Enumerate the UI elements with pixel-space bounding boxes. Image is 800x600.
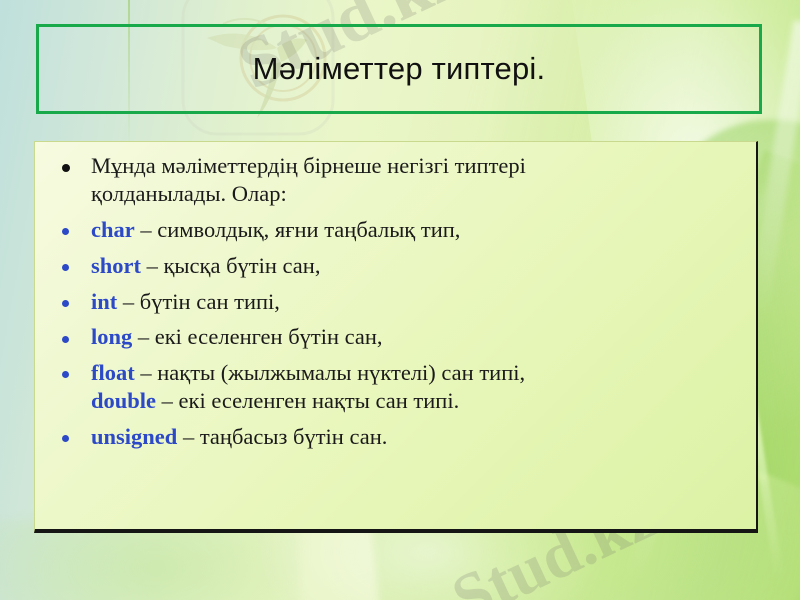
bullet-line: short – қысқа бүтін сан, xyxy=(91,252,742,280)
bullet-dot-icon xyxy=(62,164,70,172)
bullet-dot-icon xyxy=(62,264,69,271)
bullet-dot-icon xyxy=(62,300,69,307)
bullet-line: қолданылады. Олар: xyxy=(91,180,742,208)
bullet-text: Мұнда мәліметтердің бірнеше негізгі типт… xyxy=(91,153,526,178)
bullet-text: – бүтін сан типі, xyxy=(117,289,280,314)
bullet-line: unsigned – таңбасыз бүтін сан. xyxy=(91,423,742,451)
bullet-line: float – нақты (жылжымалы нүктелі) сан ти… xyxy=(91,359,742,387)
bullet-line: double – екі еселенген нақты сан типі. xyxy=(91,387,742,415)
bullet-line: Мұнда мәліметтердің бірнеше негізгі типт… xyxy=(91,152,742,180)
keyword-token: char xyxy=(91,217,135,242)
keyword-token: unsigned xyxy=(91,424,177,449)
bullet-dot-icon xyxy=(62,435,69,442)
bullet-line: int – бүтін сан типі, xyxy=(91,288,742,316)
bullet-item: int – бүтін сан типі, xyxy=(49,288,742,316)
bullet-line: char – символдық, яғни таңбалық тип, xyxy=(91,216,742,244)
bullet-item: char – символдық, яғни таңбалық тип, xyxy=(49,216,742,244)
bullet-text: – қысқа бүтін сан, xyxy=(141,253,320,278)
bullet-line: long – екі еселенген бүтін сан, xyxy=(91,323,742,351)
page-title: Мәліметтер типтері. xyxy=(253,52,546,86)
keyword-token: long xyxy=(91,324,132,349)
bullet-dot-icon xyxy=(62,371,69,378)
keyword-token: short xyxy=(91,253,141,278)
slide-title-box: Мәліметтер типтері. xyxy=(36,24,762,114)
keyword-token: float xyxy=(91,360,135,385)
bullet-text: – нақты (жылжымалы нүктелі) сан типі, xyxy=(135,360,525,385)
bullet-text: – екі еселенген бүтін сан, xyxy=(132,324,382,349)
bullet-item: short – қысқа бүтін сан, xyxy=(49,252,742,280)
bullet-dot-icon xyxy=(62,228,69,235)
bullet-item: Мұнда мәліметтердің бірнеше негізгі типт… xyxy=(49,152,742,208)
bullet-item: unsigned – таңбасыз бүтін сан. xyxy=(49,423,742,451)
bullet-list: Мұнда мәліметтердің бірнеше негізгі типт… xyxy=(49,152,742,451)
slide-content-box: Мұнда мәліметтердің бірнеше негізгі типт… xyxy=(34,141,758,533)
bullet-text: қолданылады. Олар: xyxy=(91,181,287,206)
slide-canvas: Stud.kz Stud.kz Stud.kz Stud.kz Stud.kz … xyxy=(0,0,800,600)
bullet-item: long – екі еселенген бүтін сан, xyxy=(49,323,742,351)
keyword-token: double xyxy=(91,388,156,413)
bullet-text: – символдық, яғни таңбалық тип, xyxy=(135,217,461,242)
keyword-token: int xyxy=(91,289,117,314)
bullet-text: – екі еселенген нақты сан типі. xyxy=(156,388,459,413)
bullet-item: float – нақты (жылжымалы нүктелі) сан ти… xyxy=(49,359,742,415)
bullet-dot-icon xyxy=(62,336,69,343)
bullet-text: – таңбасыз бүтін сан. xyxy=(177,424,387,449)
